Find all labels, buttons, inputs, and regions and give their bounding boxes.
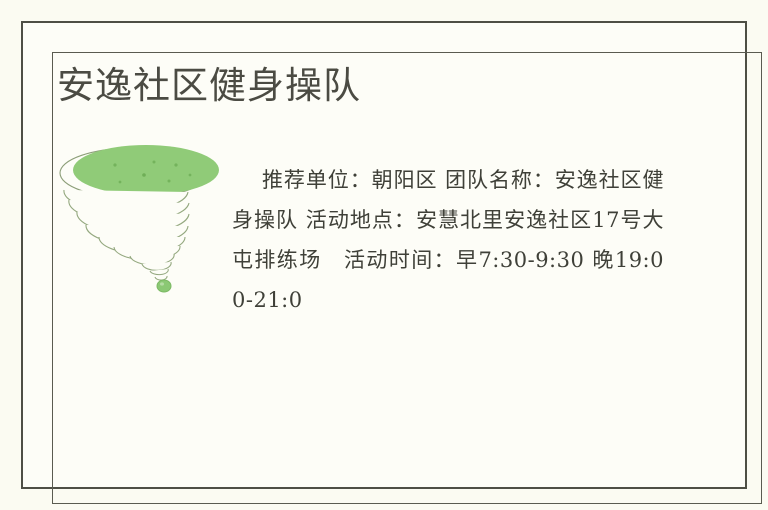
poster-card: 安逸社区健身操队 [0, 0, 768, 510]
page-title: 安逸社区健身操队 [57, 64, 361, 108]
tornado-illustration [52, 140, 232, 305]
team-details-block: 推荐单位：朝阳区 团队名称：安逸社区健身操队 活动地点：安慧北里安逸社区17号大… [232, 160, 664, 400]
tornado-icon [52, 140, 232, 305]
team-details-text: 推荐单位：朝阳区 团队名称：安逸社区健身操队 活动地点：安慧北里安逸社区17号大… [232, 160, 664, 320]
